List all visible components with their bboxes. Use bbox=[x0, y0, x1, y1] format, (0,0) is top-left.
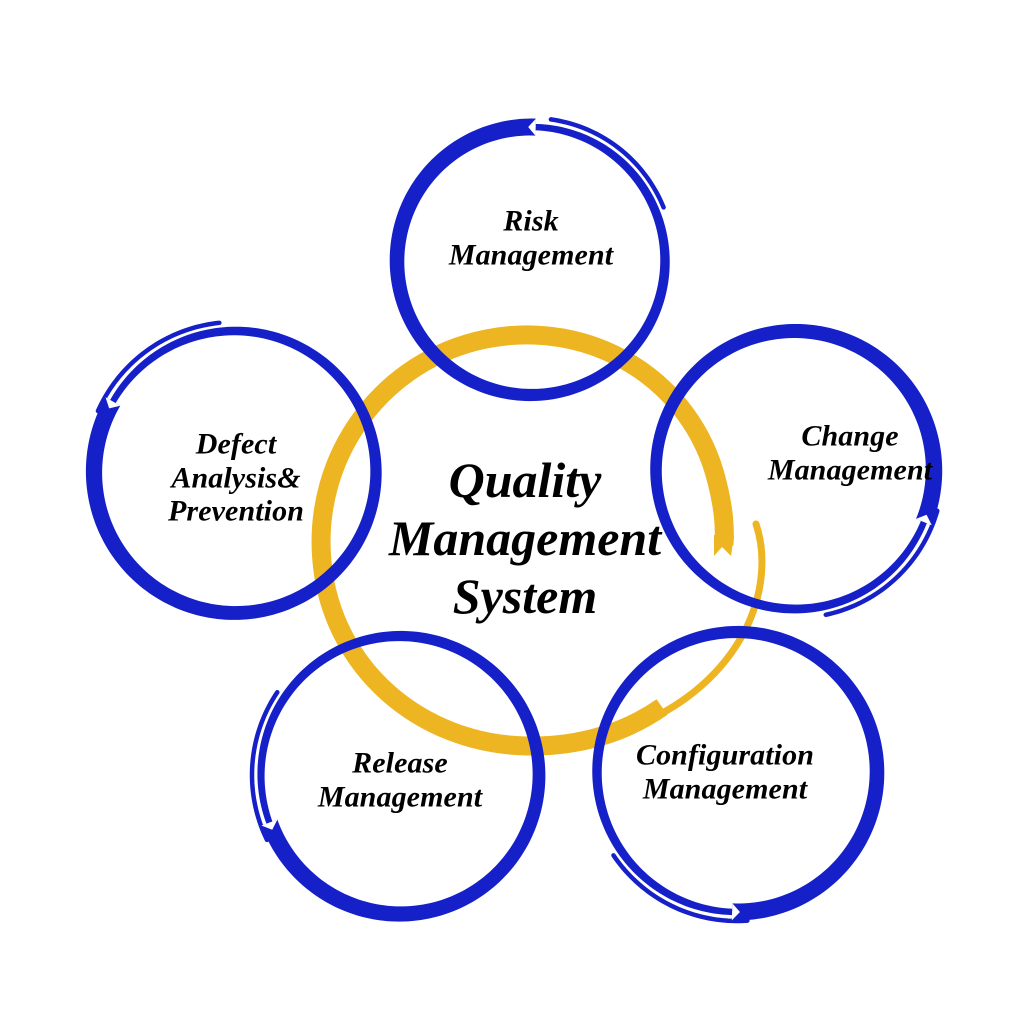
node-label-defect-analysis-prevention: Defect Analysis& Prevention bbox=[121, 428, 351, 529]
node-label-configuration-management: Configuration Management bbox=[595, 738, 855, 805]
node-label-change-management: Change Management bbox=[730, 419, 970, 486]
center-ring-tip bbox=[714, 535, 734, 556]
node-label-release-management: Release Management bbox=[280, 746, 520, 813]
diagram-canvas: Risk Management Change Management Config… bbox=[0, 0, 1024, 1024]
center-label: Quality Management System bbox=[345, 451, 705, 625]
node-label-risk-management: Risk Management bbox=[411, 204, 651, 271]
